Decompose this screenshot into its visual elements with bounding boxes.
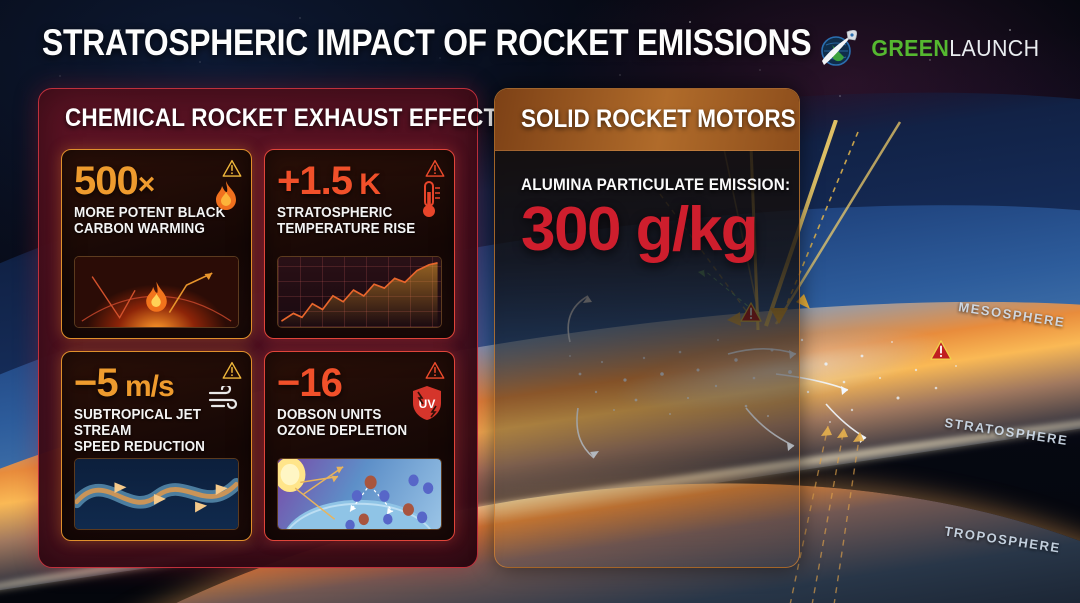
globe-rocket-icon bbox=[816, 27, 858, 69]
warning-triangle-icon bbox=[425, 159, 445, 177]
card-art-temperature-chart bbox=[277, 256, 442, 328]
stat-card-black-carbon[interactable]: 500× MORE POTENT BLACK CARBON WARMING bbox=[61, 149, 252, 339]
wind-icon bbox=[207, 386, 243, 410]
stat-number: −16 bbox=[277, 361, 342, 405]
brand-logo: GREENLAUNCH bbox=[816, 27, 1046, 69]
flame-icon bbox=[211, 180, 241, 214]
stat-card-temperature[interactable]: +1.5 K STRATOSPHERIC TEMPERATURE RISE bbox=[264, 149, 455, 339]
stat-unit: K bbox=[352, 168, 380, 201]
card-art-jet-stream bbox=[74, 458, 239, 530]
stat-label-black-carbon: MORE POTENT BLACK CARBON WARMING bbox=[74, 206, 227, 237]
warning-triangle-icon bbox=[222, 361, 242, 379]
stat-label-ozone: DOBSON UNITS OZONE DEPLETION bbox=[277, 408, 430, 439]
thermometer-icon bbox=[414, 180, 444, 214]
page-title: STRATOSPHERIC IMPACT OF ROCKET EMISSIONS bbox=[42, 22, 811, 64]
stat-number: +1.5 bbox=[277, 159, 352, 203]
scene-warning-icon-2 bbox=[930, 340, 952, 360]
stat-card-jet-stream[interactable]: −5 m/s SUBTROPICAL JET STREAM SPEED REDU… bbox=[61, 351, 252, 541]
alumina-metric-label: ALUMINA PARTICULATE EMISSION: bbox=[521, 175, 771, 195]
logo-text-launch: LAUNCH bbox=[949, 35, 1039, 61]
warning-triangle-icon bbox=[425, 361, 445, 379]
card-art-black-carbon bbox=[74, 256, 239, 328]
chemical-rocket-exhaust-panel: CHEMICAL ROCKET EXHAUST EFFECTS 500× MOR… bbox=[38, 88, 478, 568]
stat-number: −5 bbox=[74, 361, 118, 405]
alumina-metric: ALUMINA PARTICULATE EMISSION: 300 g/kg bbox=[495, 151, 799, 261]
right-panel-title: SOLID ROCKET MOTORS bbox=[521, 105, 796, 134]
left-panel-header: CHEMICAL ROCKET EXHAUST EFFECTS bbox=[55, 89, 461, 147]
stat-unit: m/s bbox=[118, 370, 174, 403]
solid-rocket-motors-panel: SOLID ROCKET MOTORS ALUMINA PARTICULATE … bbox=[494, 88, 800, 568]
logo-text-green: GREEN bbox=[872, 35, 950, 61]
card-art-ozone bbox=[277, 458, 442, 530]
stat-card-grid: 500× MORE POTENT BLACK CARBON WARMING bbox=[55, 147, 461, 541]
warning-triangle-icon bbox=[222, 159, 242, 177]
right-panel-header: SOLID ROCKET MOTORS bbox=[495, 89, 799, 151]
logo-wordmark: GREENLAUNCH bbox=[872, 35, 1040, 62]
left-panel-title: CHEMICAL ROCKET EXHAUST EFFECTS bbox=[65, 104, 513, 133]
alumina-metric-value: 300 g/kg bbox=[521, 199, 799, 261]
stat-label-jet-stream: SUBTROPICAL JET STREAM SPEED REDUCTION bbox=[74, 408, 227, 455]
stat-number: 500 bbox=[74, 159, 138, 203]
uv-shield-icon: UV bbox=[410, 384, 444, 422]
svg-text:UV: UV bbox=[419, 397, 436, 411]
stat-label-temperature: STRATOSPHERIC TEMPERATURE RISE bbox=[277, 206, 430, 237]
stat-card-ozone[interactable]: −16 DOBSON UNITS OZONE DEPLETION UV bbox=[264, 351, 455, 541]
stat-unit: × bbox=[138, 168, 155, 201]
